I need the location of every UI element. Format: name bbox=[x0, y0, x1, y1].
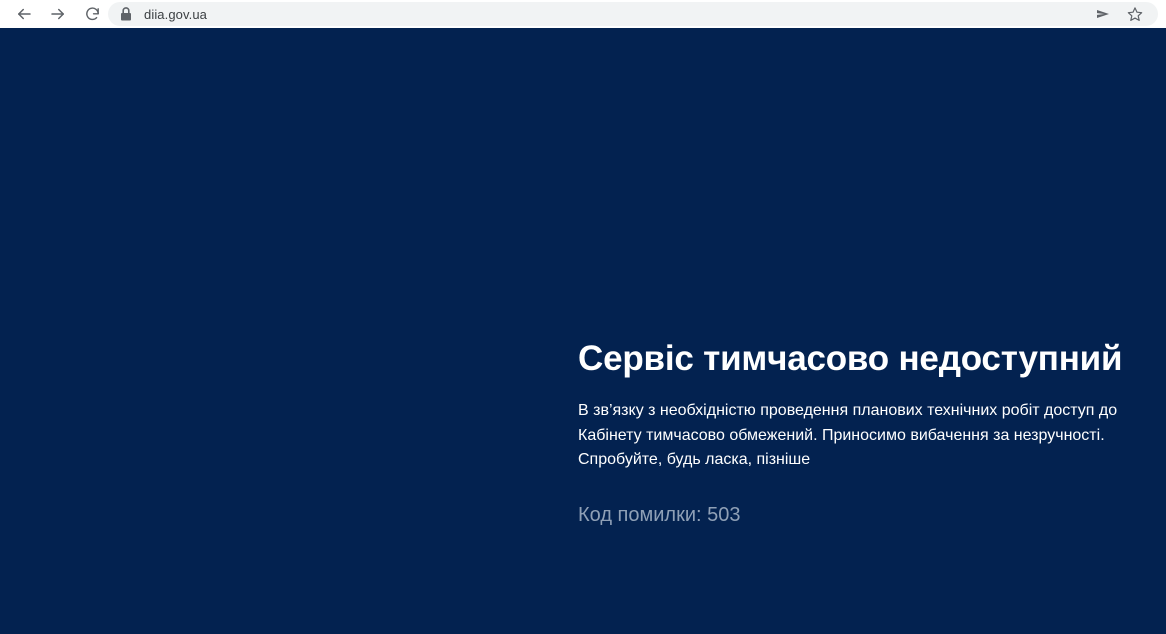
reload-icon bbox=[84, 6, 101, 23]
star-outline-icon[interactable] bbox=[1124, 3, 1146, 25]
back-button[interactable] bbox=[10, 0, 38, 28]
forward-button[interactable] bbox=[44, 0, 72, 28]
page-content: Сервіс тимчасово недоступний В зв’язку з… bbox=[0, 28, 1166, 634]
error-code: Код помилки: 503 bbox=[578, 502, 1153, 528]
send-icon[interactable] bbox=[1092, 3, 1114, 25]
error-description: В зв’язку з необхідністю проведення план… bbox=[578, 399, 1150, 472]
url-text[interactable]: diia.gov.ua bbox=[144, 7, 1092, 22]
star-glyph bbox=[1127, 6, 1143, 22]
lock-glyph bbox=[120, 7, 132, 21]
forward-arrow-icon bbox=[49, 5, 67, 23]
browser-toolbar: diia.gov.ua bbox=[0, 0, 1166, 28]
reload-button[interactable] bbox=[78, 0, 106, 28]
back-arrow-icon bbox=[15, 5, 33, 23]
send-arrow-glyph bbox=[1095, 6, 1111, 22]
lock-icon bbox=[118, 6, 134, 22]
error-message-block: Сервіс тимчасово недоступний В зв’язку з… bbox=[578, 338, 1153, 528]
error-title: Сервіс тимчасово недоступний bbox=[578, 338, 1153, 379]
address-bar[interactable]: diia.gov.ua bbox=[108, 2, 1158, 26]
